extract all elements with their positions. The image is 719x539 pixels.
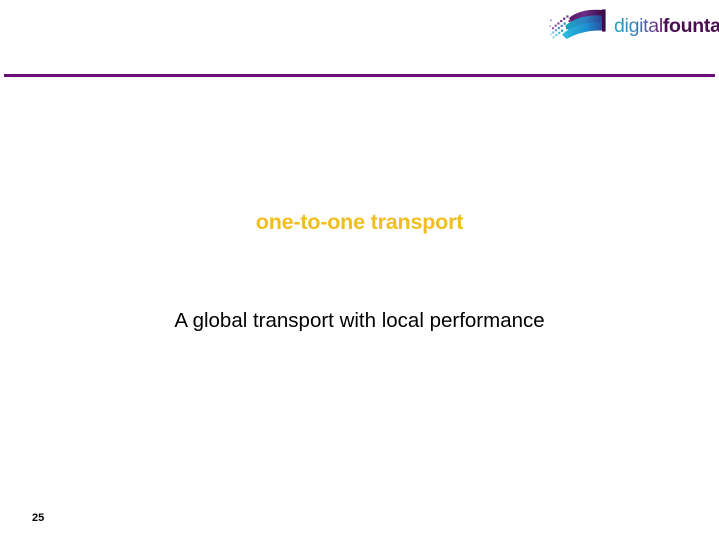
page-number: 25: [32, 512, 44, 524]
wordmark-digital: digital: [614, 15, 663, 38]
slide-canvas: digitalfountain one-to-one transport A g…: [0, 0, 719, 539]
brand-wordmark: digitalfountain: [614, 15, 719, 38]
wordmark-fountain: fountain: [663, 15, 719, 38]
brand-logo: digitalfountain: [548, 4, 716, 48]
digital-fountain-swoosh-mark-icon: [548, 6, 610, 46]
slide-subtitle: A global transport with local performanc…: [0, 309, 719, 333]
header-divider-rule: [4, 74, 715, 77]
slide-title: one-to-one transport: [0, 210, 719, 235]
